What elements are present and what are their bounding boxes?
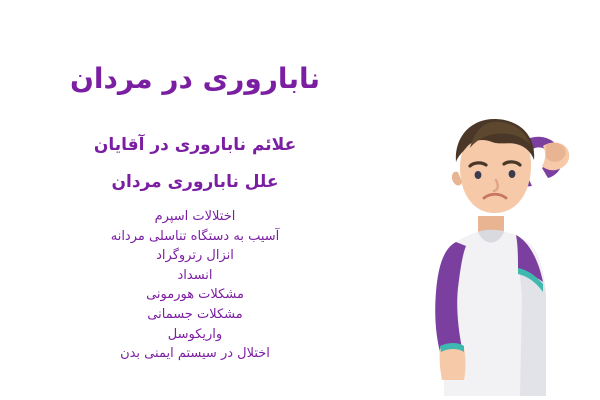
text-column: ناباروری در مردان علائم ناباروری در آقای…: [0, 0, 392, 400]
list-item: مشکلات جسمانی: [30, 305, 360, 325]
eye-left: [475, 171, 482, 179]
slide-canvas: ناباروری در مردان علائم ناباروری در آقای…: [0, 0, 600, 400]
list-item: آسیب به دستگاه تناسلی مردانه: [30, 227, 360, 247]
list-item: اختلال در سیستم ایمنی بدن: [30, 344, 360, 364]
eye-right: [509, 170, 516, 178]
list-item: انزال رتروگراد: [30, 246, 360, 266]
list-item: واریکوسل: [30, 325, 360, 345]
list-item: انسداد: [30, 266, 360, 286]
subtitle-causes: علل ناباروری مردان: [30, 172, 360, 192]
page-title: ناباروری در مردان: [30, 62, 360, 96]
worried-man-holding-head-illustration: [385, 0, 600, 400]
list-item: اختلالات اسپرم: [30, 207, 360, 227]
list-item: مشکلات هورمونی: [30, 285, 360, 305]
causes-list: اختلالات اسپرم آسیب به دستگاه تناسلی مرد…: [30, 207, 360, 364]
subtitle-symptoms: علائم ناباروری در آقایان: [30, 135, 360, 155]
